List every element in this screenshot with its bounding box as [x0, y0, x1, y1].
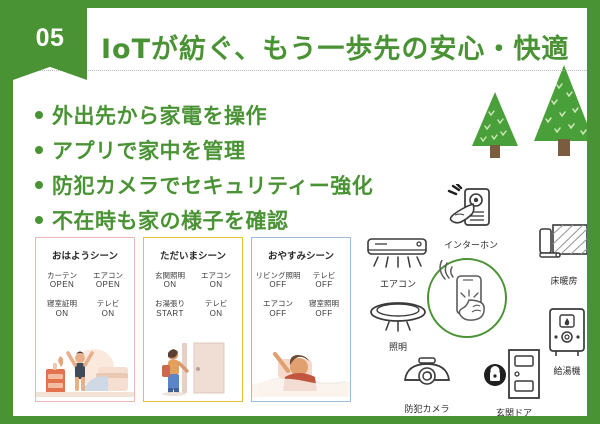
setting-state: ON [39, 309, 85, 319]
setting-item: エアコン ON [193, 271, 239, 290]
ceiling-light-icon [367, 300, 429, 334]
setting-name: テレビ [193, 299, 239, 308]
device-water-heater: 給湯機 [543, 306, 587, 377]
setting-name: 玄関照明 [147, 271, 193, 280]
bullet-dot-icon [35, 216, 43, 224]
slide-content-area: 05 IoTが紡ぐ、もう一歩先の安心・快適 外出先から家電を操作 アプリで家中を… [13, 8, 587, 416]
scene-card-title: おやすみシーン [252, 248, 350, 262]
setting-state: ON [85, 309, 131, 319]
setting-state: OFF [301, 309, 347, 319]
setting-name: 寝室照明 [301, 299, 347, 308]
setting-item: エアコン OFF [255, 299, 301, 318]
setting-name: 寝室証明 [39, 299, 85, 308]
setting-name: お湯張り [147, 299, 193, 308]
device-air-conditioner: エアコン [365, 235, 431, 290]
setting-item: 寝室照明 OFF [301, 299, 347, 318]
scene-card-settings: 玄関照明 ON エアコン ON お湯張り START テレビ ON [144, 271, 242, 319]
scene-card-morning: おはようシーン カーテン OPEN エアコン OPEN 寝室証明 ON [35, 237, 135, 402]
setting-item: テレビ OFF [301, 271, 347, 290]
setting-name: エアコン [193, 271, 239, 280]
bullet-dot-icon [35, 181, 43, 189]
device-label: エアコン [365, 277, 431, 290]
setting-state: OFF [255, 280, 301, 290]
scene-card-title: おはようシーン [36, 248, 134, 262]
device-label: 防犯カメラ [399, 402, 455, 415]
bullet-label: 外出先から家電を操作 [52, 100, 267, 130]
scene-card-goodnight: おやすみシーン リビング照明 OFF テレビ OFF エアコン OFF [251, 237, 351, 402]
morning-illustration [36, 341, 134, 397]
setting-state: OFF [301, 280, 347, 290]
device-security-camera: 防犯カメラ [399, 356, 455, 415]
device-label: インターホン [443, 238, 499, 251]
scene-card-homecoming: ただいまシーン 玄関照明 ON エアコン ON お湯張り START [143, 237, 243, 402]
homecoming-illustration [144, 341, 242, 397]
device-label: 玄関ドア [483, 406, 545, 416]
device-label: 給湯機 [543, 364, 587, 377]
setting-state: ON [193, 280, 239, 290]
goodnight-illustration [252, 341, 350, 397]
pine-tree-small-icon [468, 90, 522, 158]
scene-card-title: ただいまシーン [144, 248, 242, 262]
bullet-dot-icon [35, 146, 43, 154]
setting-name: エアコン [255, 299, 301, 308]
setting-state: ON [193, 309, 239, 319]
smartphone-tap-hub [427, 258, 507, 338]
device-ceiling-light: 照明 [367, 300, 429, 353]
pine-tree-large-icon [529, 63, 587, 158]
bullet-label: 防犯カメラでセキュリティー強化 [52, 170, 373, 200]
section-number: 05 [13, 24, 87, 53]
slide: 05 IoTが紡ぐ、もう一歩先の安心・快適 外出先から家電を操作 アプリで家中を… [0, 0, 600, 424]
list-item: アプリで家中を管理 [35, 135, 475, 165]
setting-item: 玄関照明 ON [147, 271, 193, 290]
setting-name: カーテン [39, 271, 85, 280]
setting-item: リビング照明 OFF [255, 271, 301, 290]
device-floor-heating: 床暖房 [537, 222, 587, 287]
setting-name: リビング照明 [255, 271, 301, 280]
scene-card-settings: リビング照明 OFF テレビ OFF エアコン OFF 寝室照明 OFF [252, 271, 350, 319]
device-icon-cluster: エアコン [365, 188, 587, 403]
setting-state: ON [147, 280, 193, 290]
setting-item: お湯張り START [147, 299, 193, 318]
setting-name: テレビ [85, 299, 131, 308]
setting-state: START [147, 309, 193, 319]
setting-state: OPEN [85, 280, 131, 290]
setting-state: OFF [255, 309, 301, 319]
setting-item: エアコン OPEN [85, 271, 131, 290]
header-divider [31, 70, 587, 71]
bullet-label: 不在時も家の様子を確認 [52, 205, 289, 235]
setting-name: エアコン [85, 271, 131, 280]
security-camera-icon [399, 356, 455, 396]
device-label: 床暖房 [537, 274, 587, 287]
setting-state: OPEN [39, 280, 85, 290]
device-front-door: 玄関ドア [483, 348, 545, 416]
setting-item: カーテン OPEN [39, 271, 85, 290]
front-door-icon [483, 348, 545, 400]
smartphone-tap-icon [429, 260, 505, 336]
list-item: 外出先から家電を操作 [35, 100, 475, 130]
air-conditioner-icon [365, 235, 431, 271]
intercom-icon [443, 184, 499, 232]
bullet-label: アプリで家中を管理 [52, 135, 246, 165]
scene-card-list: おはようシーン カーテン OPEN エアコン OPEN 寝室証明 ON [35, 237, 351, 402]
scene-card-settings: カーテン OPEN エアコン OPEN 寝室証明 ON テレビ ON [36, 271, 134, 319]
water-heater-icon [543, 306, 587, 358]
setting-item: 寝室証明 ON [39, 299, 85, 318]
device-label: 照明 [367, 340, 429, 353]
setting-item: テレビ ON [193, 299, 239, 318]
setting-name: テレビ [301, 271, 347, 280]
page-title: IoTが紡ぐ、もう一歩先の安心・快適 [101, 27, 571, 66]
floor-heating-icon [537, 222, 587, 268]
setting-item: テレビ ON [85, 299, 131, 318]
device-intercom: インターホン [443, 184, 499, 251]
bullet-dot-icon [35, 111, 43, 119]
